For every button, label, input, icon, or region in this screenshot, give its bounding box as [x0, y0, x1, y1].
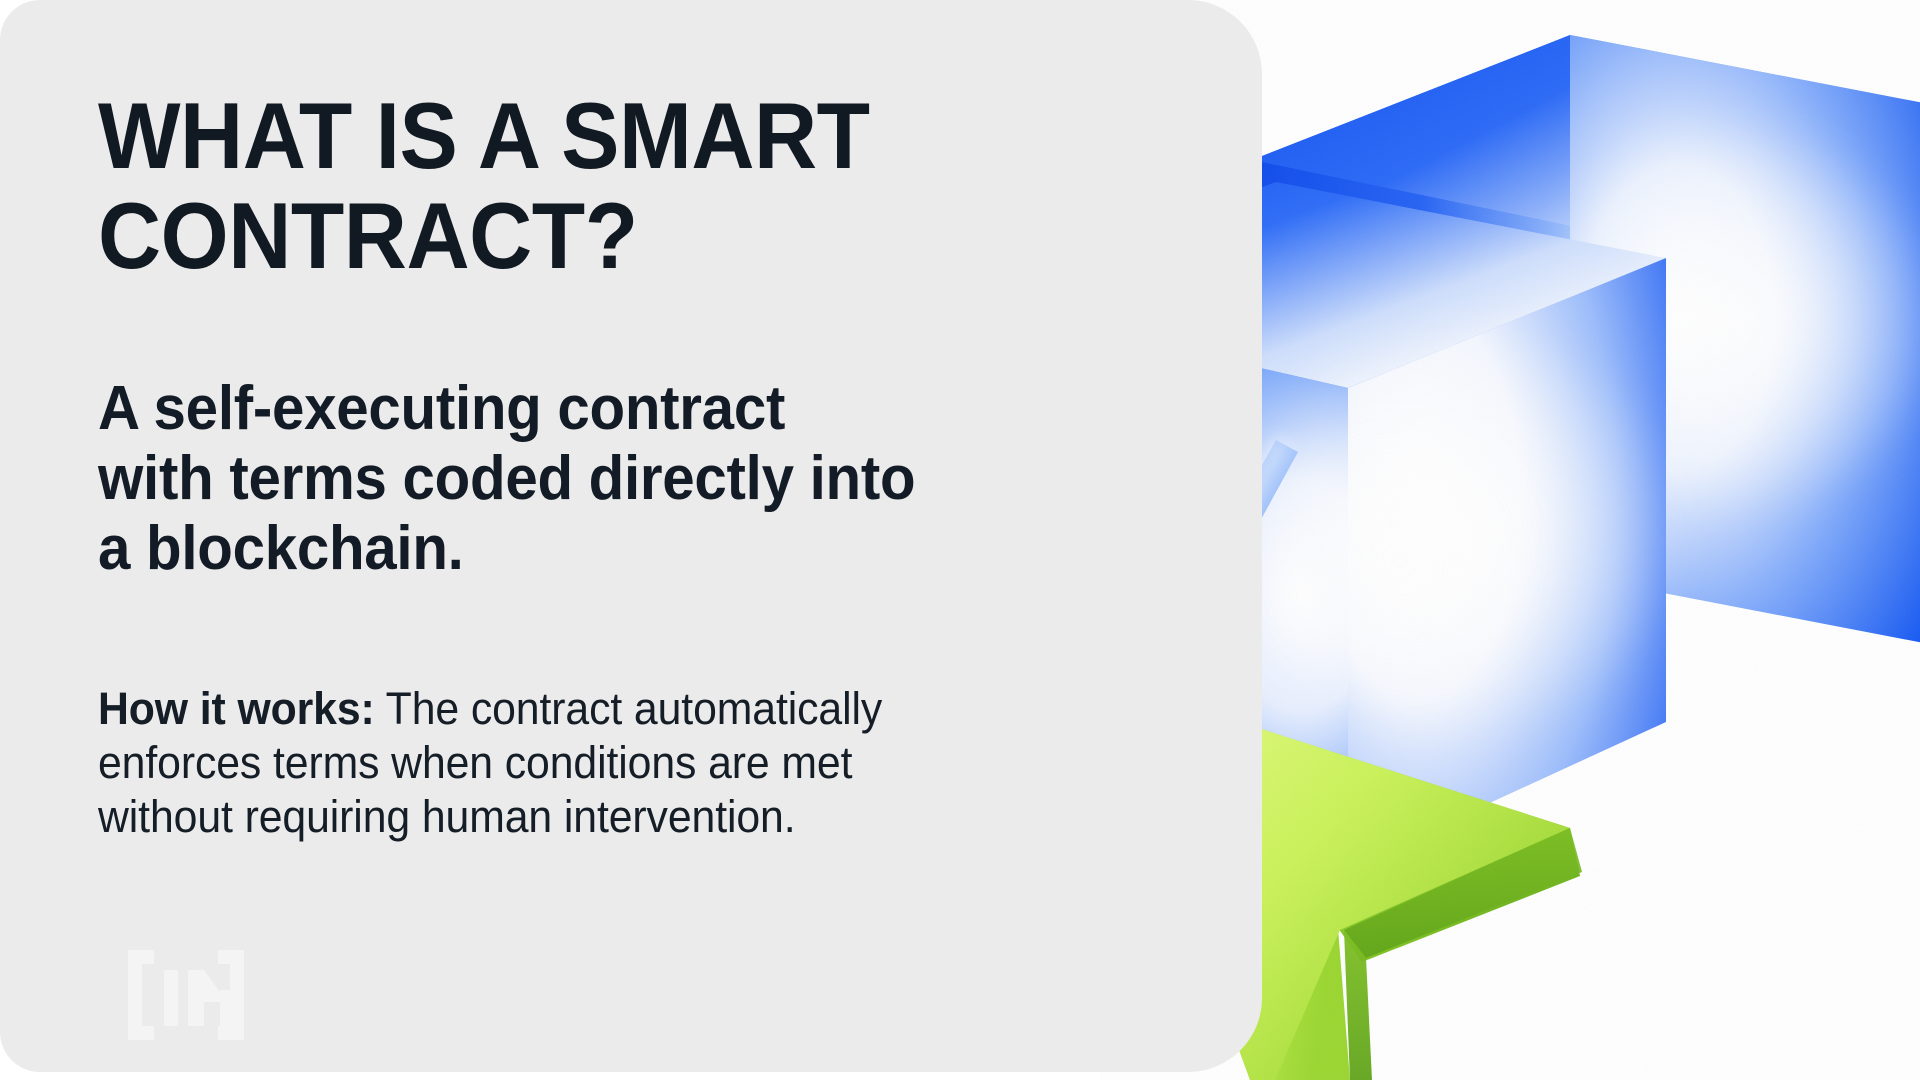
how-it-works-paragraph: How it works: The contract automatically… [98, 682, 934, 844]
card-subhead: A self-executing contract with terms cod… [98, 374, 916, 584]
infographic-canvas: What is a smart contract? A self-executi… [0, 0, 1920, 1080]
beincrypto-logo [98, 940, 274, 1050]
how-it-works-label: How it works: [98, 683, 375, 734]
page-title: What is a smart contract? [98, 86, 870, 285]
info-card: What is a smart contract? A self-executi… [0, 0, 1262, 1072]
card-content: What is a smart contract? A self-executi… [98, 0, 928, 1072]
